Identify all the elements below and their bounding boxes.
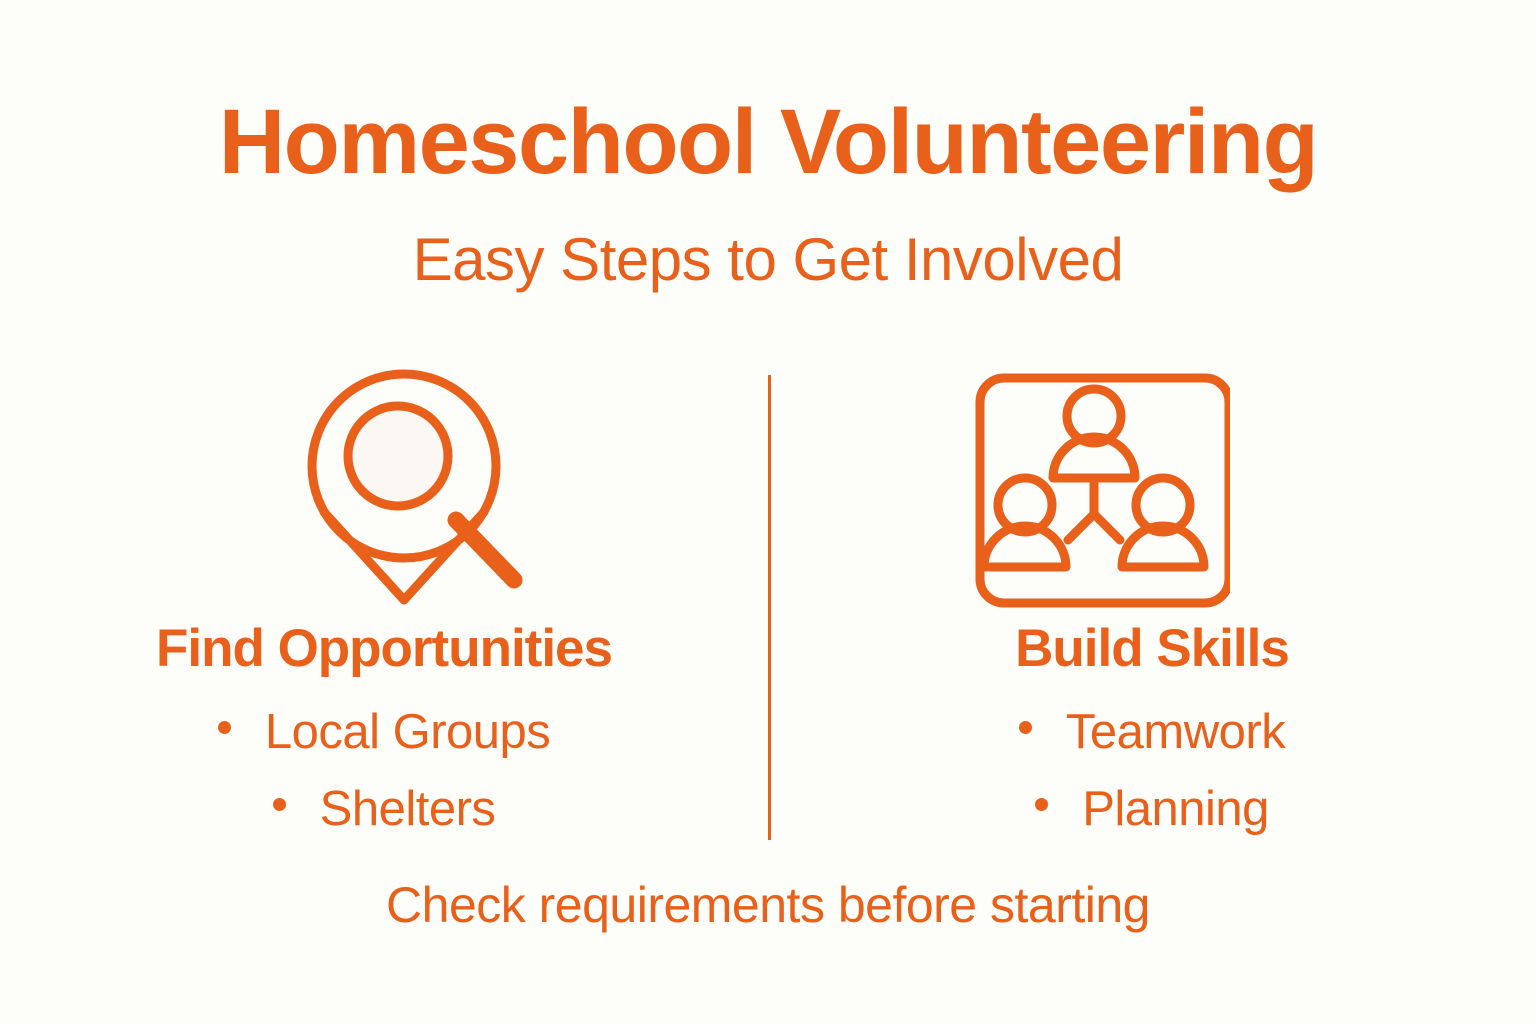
bullet-dot-icon [1019, 721, 1032, 734]
list-item-label: Teamwork [1066, 708, 1285, 757]
bullet-list-find-opportunities: Local Groups Shelters [0, 705, 768, 860]
page-subtitle: Easy Steps to Get Involved [0, 188, 1536, 290]
list-item-label: Local Groups [265, 708, 550, 757]
bullet-dot-icon [273, 798, 286, 811]
list-item-label: Planning [1082, 785, 1269, 834]
column-heading-build-skills: Build Skills [768, 622, 1536, 675]
person-figure-top [1053, 389, 1135, 478]
person-figure-right [1122, 478, 1204, 567]
column-heading-find-opportunities: Find Opportunities [0, 622, 768, 675]
person-figure-left [984, 478, 1066, 567]
icon-container-right [768, 360, 1536, 610]
footer-note: Check requirements before starting [0, 880, 1536, 930]
list-item: Local Groups [0, 705, 768, 757]
lens-circle [348, 406, 448, 506]
infographic-poster: Homeschool Volunteering Easy Steps to Ge… [0, 0, 1536, 1024]
icon-container-left [0, 360, 768, 610]
team-network-icon [970, 368, 1230, 608]
list-item: Shelters [0, 783, 768, 835]
bullet-dot-icon [218, 721, 231, 734]
poster-header: Homeschool Volunteering Easy Steps to Ge… [0, 96, 1536, 290]
page-title: Homeschool Volunteering [0, 96, 1536, 188]
connector-lines [1068, 484, 1120, 540]
column-build-skills: Build Skills Teamwork Planning [768, 360, 1536, 860]
list-item: Planning [768, 783, 1536, 835]
list-item-label: Shelters [320, 785, 496, 834]
location-search-pin-icon [286, 368, 546, 618]
bullet-dot-icon [1035, 798, 1048, 811]
bullet-list-build-skills: Teamwork Planning [768, 705, 1536, 860]
list-item: Teamwork [768, 705, 1536, 757]
column-find-opportunities: Find Opportunities Local Groups Shelters [0, 360, 768, 860]
columns-section: Find Opportunities Local Groups Shelters [0, 360, 1536, 860]
